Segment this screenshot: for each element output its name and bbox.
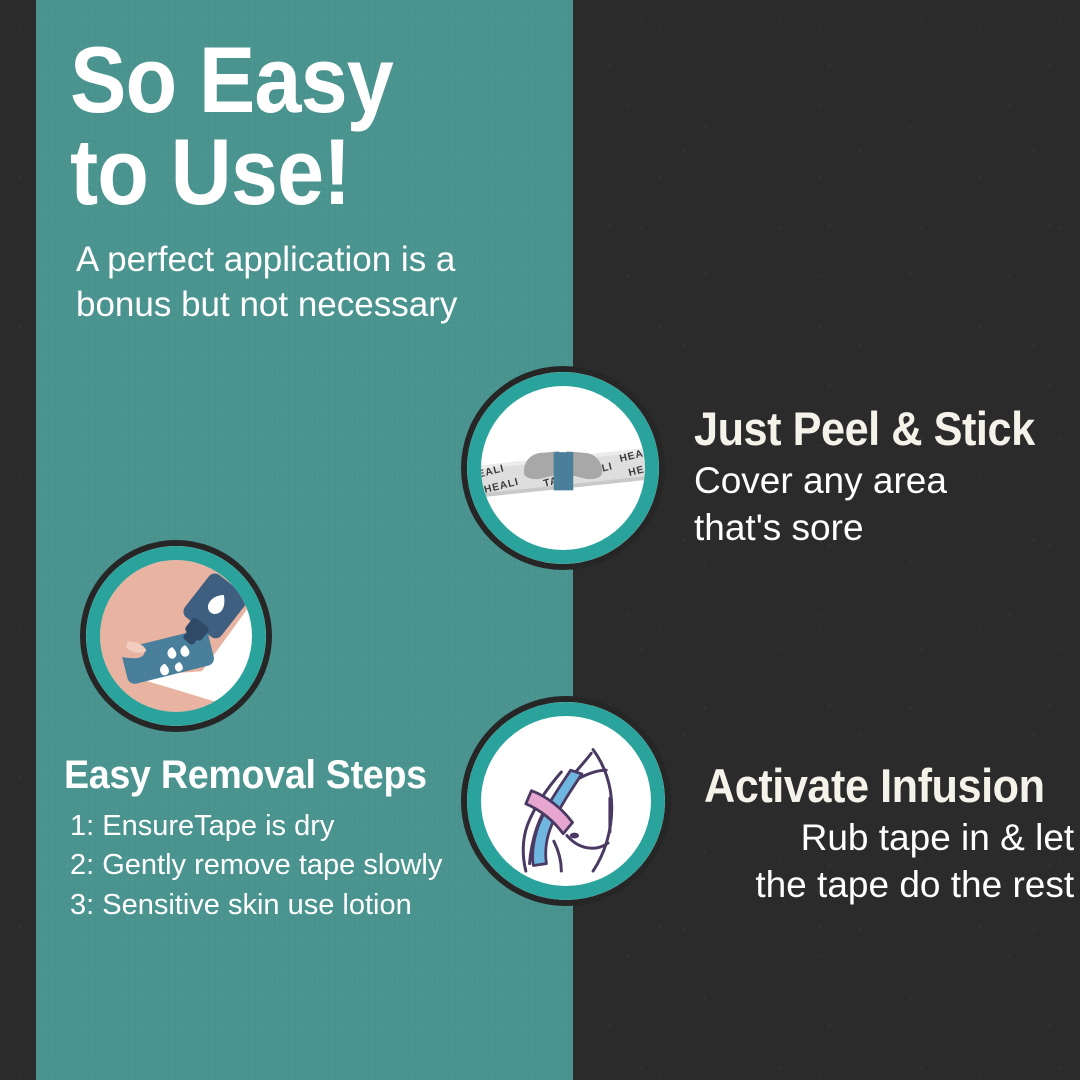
lotion-on-tape-artwork — [100, 560, 252, 712]
removal-steps-list: 1: EnsureTape is dry 2: Gently remove ta… — [64, 807, 494, 925]
activate-infusion-image-circle — [461, 696, 671, 906]
page-title: So Easy to Use! — [70, 34, 493, 218]
peel-stick-body: Cover any area that's sore — [694, 458, 1064, 551]
peel-stick-image-circle: HEALI HEALI TA HEALI HEAL HEA — [461, 366, 665, 570]
removal-steps-title: Easy Removal Steps — [64, 755, 468, 795]
lotion-removal-image-circle — [80, 540, 272, 732]
easy-removal-steps-block: Easy Removal Steps 1: EnsureTape is dry … — [64, 755, 494, 925]
list-item: 3: Sensitive skin use lotion — [70, 886, 494, 925]
peel-stick-title: Just Peel & Stick — [694, 405, 1035, 452]
list-item: 2: Gently remove tape slowly — [70, 846, 494, 885]
activate-infusion-title: Activate Infusion — [704, 762, 1045, 809]
activate-infusion-copy-block: Activate Infusion Rub tape in & let the … — [704, 762, 1074, 908]
activate-infusion-body: Rub tape in & let the tape do the rest — [708, 815, 1074, 908]
infographic-canvas: So Easy to Use! A perfect application is… — [0, 0, 1080, 1080]
peel-stick-copy-block: Just Peel & Stick Cover any area that's … — [694, 405, 1064, 551]
elbow-tape-illustration-icon — [481, 716, 651, 886]
lotion-bottle-icon — [100, 560, 252, 712]
kinesiology-tape-icon: HEALI HEALI TA HEALI HEAL HEA — [481, 386, 645, 550]
page-subtitle: A perfect application is a bonus but not… — [76, 238, 526, 328]
tape-peel-artwork: HEALI HEALI TA HEALI HEAL HEA — [481, 386, 645, 550]
hero-text-block: So Easy to Use! A perfect application is… — [70, 34, 540, 328]
elbow-tape-artwork — [481, 716, 651, 886]
list-item: 1: EnsureTape is dry — [70, 807, 494, 846]
